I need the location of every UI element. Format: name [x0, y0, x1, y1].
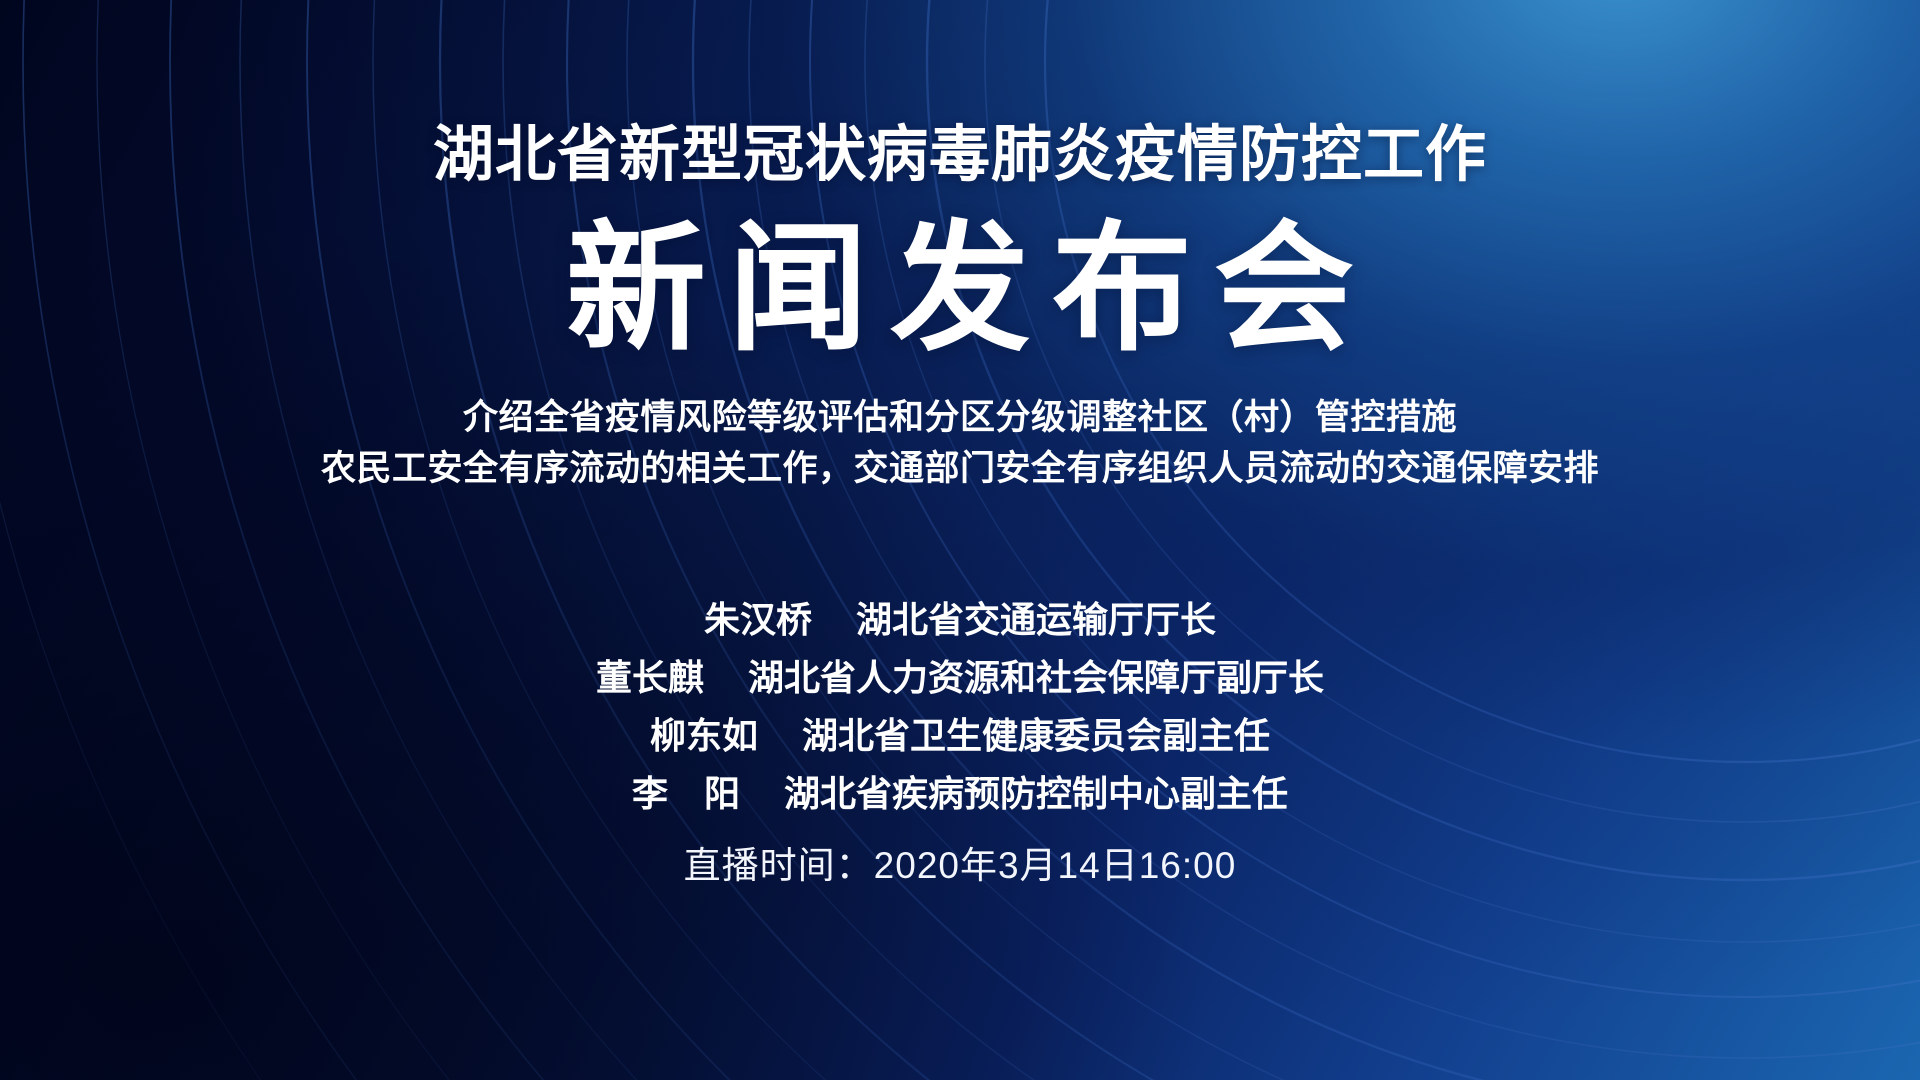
speaker-title: 湖北省交通运输厅厅长: [856, 591, 1216, 649]
subtitle-block: 介绍全省疫情风险等级评估和分区分级调整社区（村）管控措施 农民工安全有序流动的相…: [321, 393, 1599, 495]
speaker-title: 湖北省卫生健康委员会副主任: [802, 707, 1270, 765]
page-title: 湖北省新型冠状病毒肺炎疫情防控工作: [433, 124, 1487, 185]
subtitle-line-1: 介绍全省疫情风险等级评估和分区分级调整社区（村）管控措施: [321, 393, 1599, 444]
speaker-title: 湖北省疾病预防控制中心副主任: [784, 765, 1288, 823]
speaker-name: 李 阳: [632, 765, 784, 823]
speaker-title: 湖北省人力资源和社会保障厅副厅长: [748, 649, 1324, 707]
speaker-list: 朱汉桥 湖北省交通运输厅厅长 董长麒 湖北省人力资源和社会保障厅副厅长 柳东如 …: [596, 591, 1324, 824]
speaker-row: 董长麒 湖北省人力资源和社会保障厅副厅长: [596, 649, 1324, 707]
poster-canvas: 湖北省新型冠状病毒肺炎疫情防控工作 新闻发布会 介绍全省疫情风险等级评估和分区分…: [0, 0, 1920, 1080]
subtitle-line-2: 农民工安全有序流动的相关工作，交通部门安全有序组织人员流动的交通保障安排: [321, 444, 1599, 495]
speaker-row: 李 阳 湖北省疾病预防控制中心副主任: [632, 765, 1288, 823]
poster-content: 湖北省新型冠状病毒肺炎疫情防控工作 新闻发布会 介绍全省疫情风险等级评估和分区分…: [0, 0, 1920, 1080]
speaker-row: 朱汉桥 湖北省交通运输厅厅长: [704, 591, 1216, 649]
speaker-name: 柳东如: [650, 707, 802, 765]
broadcast-time: 直播时间：2020年3月14日16:00: [684, 844, 1237, 888]
headline: 新闻发布会: [544, 219, 1376, 359]
speaker-name: 朱汉桥: [704, 591, 856, 649]
speaker-name: 董长麒: [596, 649, 748, 707]
speaker-row: 柳东如 湖北省卫生健康委员会副主任: [650, 707, 1270, 765]
